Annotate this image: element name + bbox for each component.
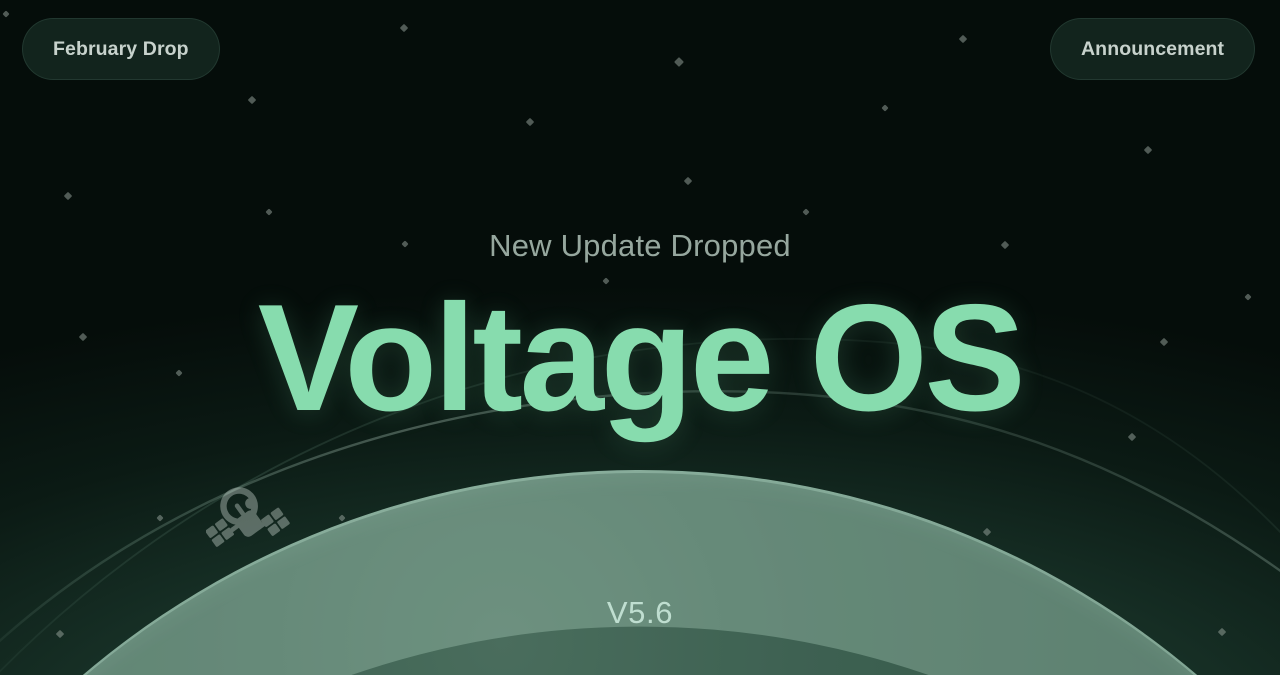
star-particle bbox=[1160, 338, 1168, 346]
star-particle bbox=[1144, 146, 1152, 154]
star-particle bbox=[684, 177, 692, 185]
star-particle bbox=[1218, 628, 1226, 636]
star-particle bbox=[1001, 241, 1009, 249]
star-particle bbox=[1244, 293, 1251, 300]
star-particle bbox=[881, 104, 888, 111]
star-particle bbox=[2, 10, 9, 17]
star-particle bbox=[400, 24, 408, 32]
star-particle bbox=[959, 35, 967, 43]
star-particle bbox=[56, 630, 64, 638]
star-particle bbox=[401, 240, 408, 247]
star-particle bbox=[1128, 433, 1136, 441]
orbit-arc bbox=[0, 0, 1280, 675]
hero-eyebrow: New Update Dropped bbox=[0, 228, 1280, 264]
star-particle bbox=[338, 514, 345, 521]
announcement-badge[interactable]: Announcement bbox=[1050, 18, 1255, 80]
star-particle bbox=[156, 514, 163, 521]
star-particle bbox=[674, 57, 684, 67]
february-drop-badge[interactable]: February Drop bbox=[22, 18, 220, 80]
star-particle bbox=[175, 369, 182, 376]
starfield bbox=[0, 0, 1280, 675]
announcement-banner: February Drop Announcement New Update Dr… bbox=[0, 0, 1280, 675]
satellite-icon bbox=[206, 478, 298, 570]
star-particle bbox=[983, 528, 991, 536]
page-title: Voltage OS bbox=[0, 281, 1280, 436]
star-particle bbox=[79, 333, 87, 341]
star-particle bbox=[602, 277, 609, 284]
earth-globe bbox=[0, 470, 1280, 675]
star-particle bbox=[248, 96, 256, 104]
star-particle bbox=[265, 208, 272, 215]
star-particle bbox=[802, 208, 809, 215]
version-label: V5.6 bbox=[0, 595, 1280, 631]
star-particle bbox=[526, 118, 534, 126]
globe-continents bbox=[0, 470, 1280, 675]
star-particle bbox=[64, 192, 72, 200]
globe-rim-highlight bbox=[0, 470, 1280, 675]
